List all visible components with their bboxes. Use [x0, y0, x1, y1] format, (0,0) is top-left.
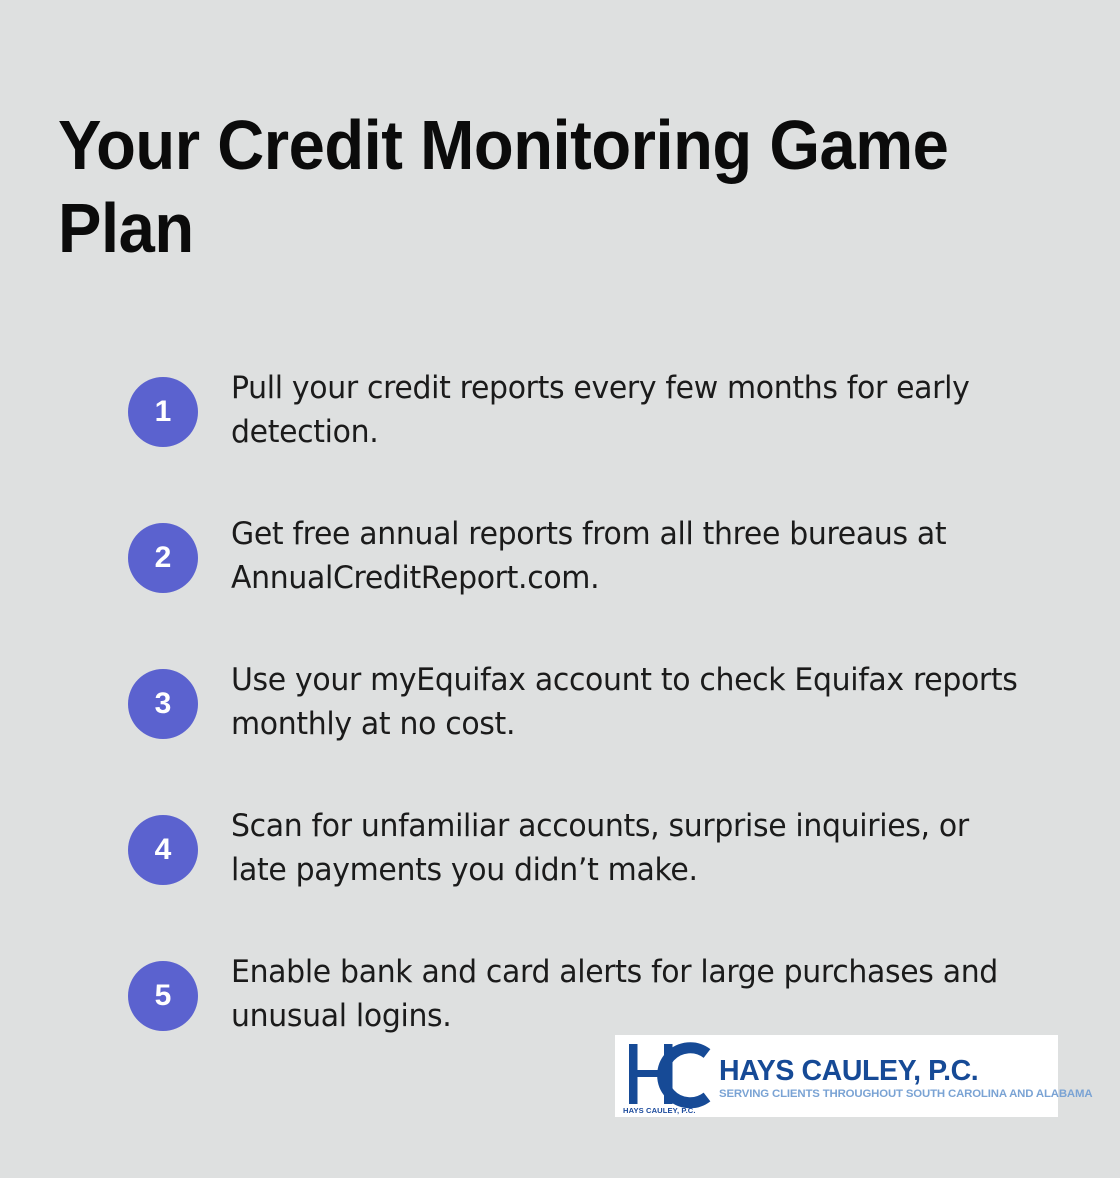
- infographic-canvas: Your Credit Monitoring Game Plan 1 Pull …: [0, 0, 1120, 1178]
- step-text-3: Use your myEquifax account to check Equi…: [231, 658, 1019, 746]
- list-item: 4 Scan for unfamiliar accounts, surprise…: [128, 804, 1048, 892]
- step-number-badge-4: 4: [128, 815, 198, 885]
- step-text-2: Get free annual reports from all three b…: [231, 512, 1019, 600]
- step-number-badge-2: 2: [128, 523, 198, 593]
- step-text-1: Pull your credit reports every few month…: [231, 366, 1019, 454]
- list-item: 5 Enable bank and card alerts for large …: [128, 950, 1048, 1038]
- step-number-badge-3: 3: [128, 669, 198, 739]
- list-item: 2 Get free annual reports from all three…: [128, 512, 1048, 600]
- step-number-badge-1: 1: [128, 377, 198, 447]
- list-item: 1 Pull your credit reports every few mon…: [128, 366, 1048, 454]
- steps-list: 1 Pull your credit reports every few mon…: [128, 366, 1048, 1038]
- firm-logo-text: HAYS CAULEY, P.C. SERVING CLIENTS THROUG…: [717, 1055, 1092, 1101]
- step-number-badge-5: 5: [128, 961, 198, 1031]
- list-item: 3 Use your myEquifax account to check Eq…: [128, 658, 1048, 746]
- firm-name: HAYS CAULEY, P.C.: [719, 1057, 1092, 1087]
- firm-tagline: SERVING CLIENTS THROUGHOUT SOUTH CAROLIN…: [719, 1087, 1092, 1101]
- step-text-4: Scan for unfamiliar accounts, surprise i…: [231, 804, 1019, 892]
- monogram-caption: HAYS CAULEY, P.C.: [623, 1106, 696, 1115]
- page-title: Your Credit Monitoring Game Plan: [58, 104, 951, 269]
- step-text-5: Enable bank and card alerts for large pu…: [231, 950, 1019, 1038]
- hc-monogram-icon: HAYS CAULEY, P.C.: [621, 1039, 717, 1117]
- firm-logo-card: HAYS CAULEY, P.C. HAYS CAULEY, P.C. SERV…: [615, 1035, 1058, 1117]
